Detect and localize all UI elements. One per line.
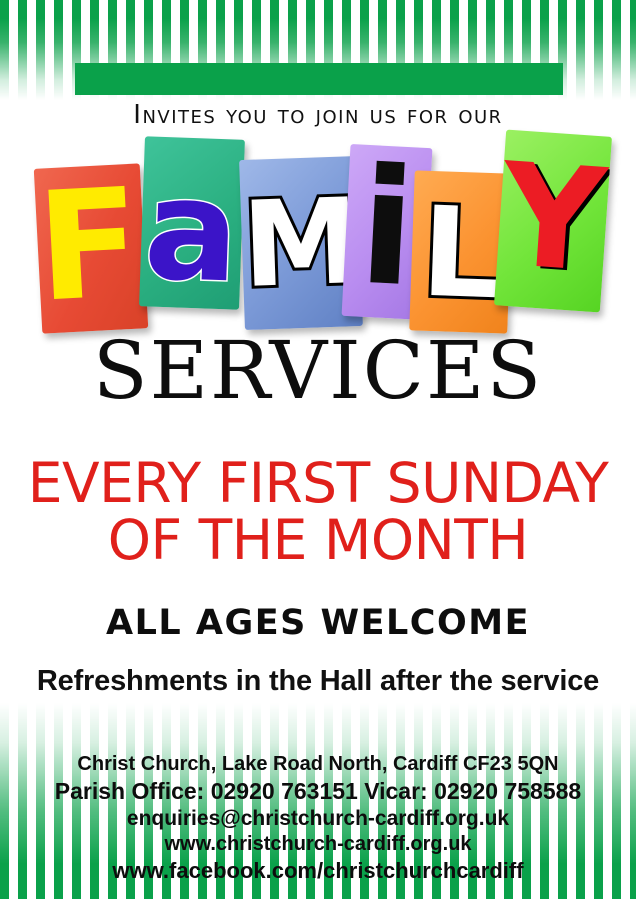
welcome-line: ALL AGES WELCOME (0, 606, 636, 641)
date-line-2: OF THE MONTH (0, 512, 636, 569)
contact-address: Christ Church, Lake Road North, Cardiff … (0, 752, 636, 777)
title-letter-l-glyph: L (419, 191, 502, 318)
title-letter-f: F (34, 163, 148, 333)
title-letter-f-glyph: F (34, 168, 144, 323)
poster-canvas: Invites you to join us for our F a M i L… (0, 0, 636, 899)
invite-line: Invites you to join us for our (0, 100, 636, 130)
services-heading: SERVICES (0, 331, 636, 411)
title-letter-a-glyph: a (142, 160, 241, 303)
title-letter-y: Y (494, 130, 612, 313)
contact-phones: Parish Office: 02920 763151 Vicar: 02920… (0, 777, 636, 806)
contact-facebook: www.facebook.com/christchurchcardiff (0, 857, 636, 885)
contact-email: enquiries@christchurch-cardiff.org.uk (0, 806, 636, 832)
date-block: EVERY FIRST SUNDAY OF THE MONTH (0, 455, 636, 569)
title-letter-a: a (139, 136, 245, 309)
green-banner-bar (75, 63, 563, 95)
date-line-1: EVERY FIRST SUNDAY (0, 455, 636, 512)
title-letter-i-glyph: i (356, 147, 419, 310)
family-title-word: F a M i L Y (0, 128, 636, 343)
contact-block: Christ Church, Lake Road North, Cardiff … (0, 752, 636, 885)
title-letter-y-glyph: Y (497, 145, 609, 294)
refreshments-line: Refreshments in the Hall after the servi… (0, 667, 636, 696)
contact-website: www.christchurch-cardiff.org.uk (0, 832, 636, 857)
